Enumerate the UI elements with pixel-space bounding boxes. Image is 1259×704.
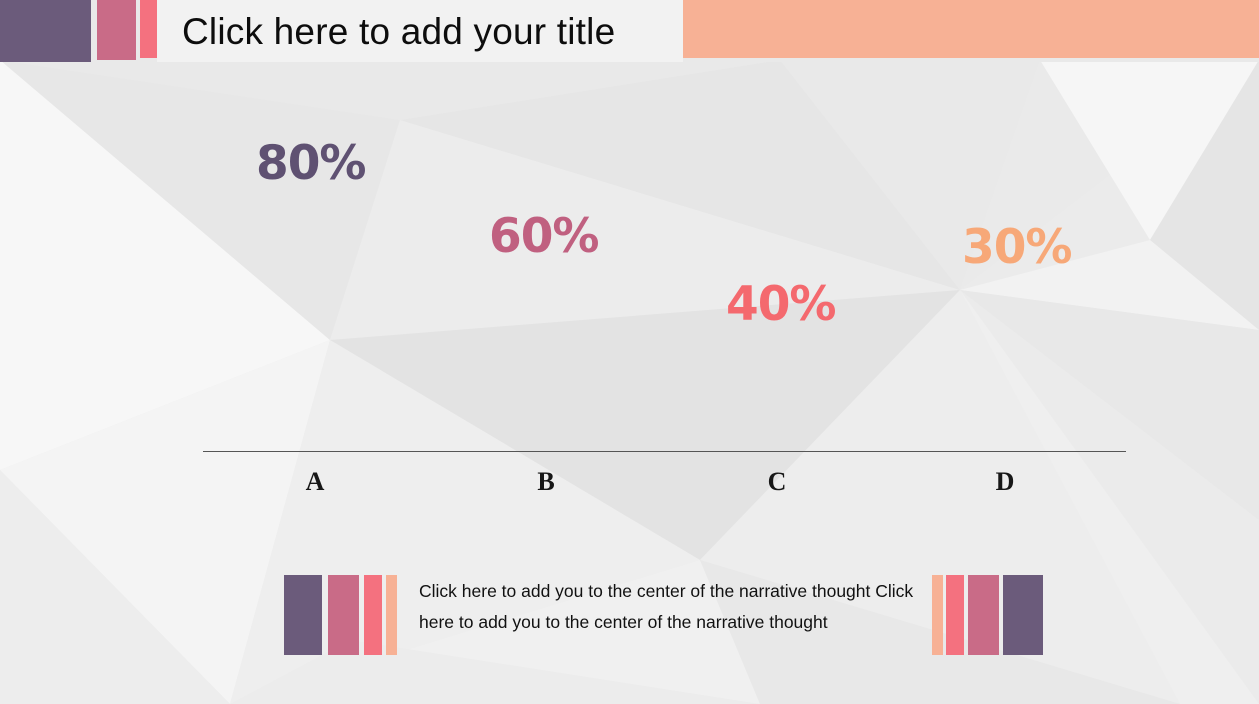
header-accent-bar-rose bbox=[97, 0, 136, 60]
value-label-b[interactable]: 60% bbox=[489, 213, 599, 260]
caption-deco-left-peach bbox=[386, 575, 397, 655]
chart-axis-line bbox=[203, 451, 1126, 452]
axis-label-a: A bbox=[285, 467, 345, 497]
axis-label-c: C bbox=[747, 467, 807, 497]
caption-deco-right-peach bbox=[932, 575, 943, 655]
caption-deco-left-rose bbox=[328, 575, 359, 655]
axis-label-b: B bbox=[516, 467, 576, 497]
caption-deco-left-purple bbox=[284, 575, 322, 655]
presentation-slide: Click here to add your title 80% 60% 40%… bbox=[0, 0, 1259, 704]
page-title[interactable]: Click here to add your title bbox=[182, 8, 615, 56]
caption-deco-right-pink bbox=[946, 575, 964, 655]
value-label-d[interactable]: 30% bbox=[962, 224, 1072, 271]
header-accent-bar-purple bbox=[0, 0, 91, 62]
value-label-a[interactable]: 80% bbox=[256, 140, 366, 187]
caption-deco-left-pink bbox=[364, 575, 382, 655]
caption-textbox[interactable]: Click here to add you to the center of t… bbox=[419, 576, 919, 638]
value-label-c[interactable]: 40% bbox=[726, 281, 836, 328]
axis-label-d: D bbox=[975, 467, 1035, 497]
caption-deco-right-purple bbox=[1003, 575, 1043, 655]
caption-deco-right-rose bbox=[968, 575, 999, 655]
header-accent-bar-peach bbox=[683, 0, 1259, 58]
header-accent-bar-pink bbox=[140, 0, 157, 58]
